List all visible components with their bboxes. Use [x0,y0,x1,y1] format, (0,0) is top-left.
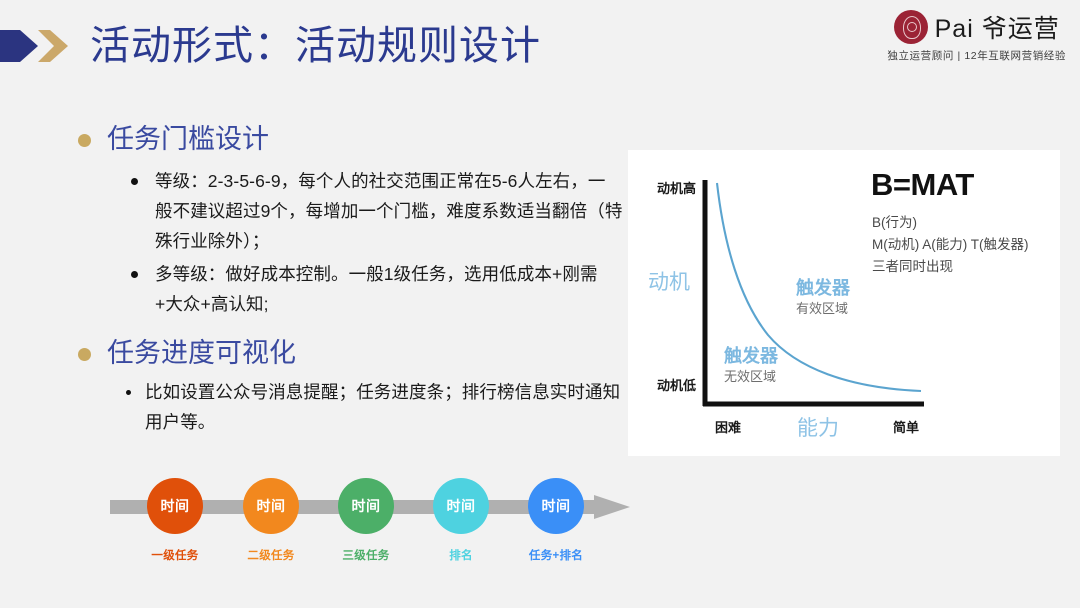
timeline-node-4[interactable]: 时间 排名 [418,478,504,563]
section-heading-1: 任务门槛设计 [78,122,623,157]
timeline-circle-3-text: 时间 [352,496,381,516]
bullet-dot-icon [131,178,138,185]
timeline-node-3[interactable]: 时间 三级任务 [323,478,409,563]
chart-y-axis-title: 动机 [648,271,690,294]
bullet-dot-icon [131,271,138,278]
timeline-label-1: 一级任务 [132,547,218,563]
list-item: 等级：2-3-5-6-9，每个人的社交范围正常在5-6人左右，一般不建议超过9个… [131,166,623,256]
bmat-chart-panel: 动机高 动机低 动机 困难 简单 能力 触发器 有效区域 触发器 无效区域 B=… [628,150,1060,456]
section-heading-1-label: 任务门槛设计 [107,122,269,157]
timeline-circle-1-text: 时间 [161,496,190,516]
timeline-circle-4-text: 时间 [447,496,476,516]
timeline-node-2[interactable]: 时间 二级任务 [228,478,314,563]
section-heading-2: 任务进度可视化 [78,336,623,371]
timeline-nodes: 时间 一级任务 时间 二级任务 时间 三级任务 时间 排名 [110,470,630,570]
chevron-double-right-icon [0,22,68,70]
timeline-circle-3: 时间 [338,478,394,534]
timeline-label-2: 二级任务 [228,547,314,563]
timeline-circle-5-text: 时间 [542,496,571,516]
chart-formula-equation: B=MAT [871,167,974,202]
section-1-bullets: 等级：2-3-5-6-9，每个人的社交范围正常在5-6人左右，一般不建议超过9个… [131,166,623,319]
logo-tagline: 独立运营顾问 | 12年互联网营销经验 [887,48,1066,63]
chart-formula-line-2: M(动机) A(能力) T(触发器) [872,237,1028,252]
list-item-text: 比如设置公众号消息提醒；任务进度条；排行榜信息实时通知用户等。 [145,377,623,437]
timeline-circle-5: 时间 [528,478,584,534]
logo-seal-icon [894,10,928,44]
timeline-circle-2: 时间 [243,478,299,534]
timeline-node-5[interactable]: 时间 任务+排名 [513,478,599,563]
timeline-label-5: 任务+排名 [513,547,599,563]
chart-formula-line-1: B(行为) [872,215,917,230]
slide-header: 活动形式：活动规则设计 [0,22,541,70]
chart-annotation-2-subtitle: 无效区域 [724,369,776,384]
chart-xtick-hard: 困难 [715,420,741,435]
timeline-circle-2-text: 时间 [257,496,286,516]
list-item: 比如设置公众号消息提醒；任务进度条；排行榜信息实时通知用户等。 [126,377,623,437]
section-heading-2-label: 任务进度可视化 [107,336,296,371]
list-item-text: 多等级：做好成本控制。一般1级任务，选用低成本+刚需+大众+高认知; [155,259,623,319]
chart-x-axis-title: 能力 [797,417,839,440]
section-2-bullets: 比如设置公众号消息提醒；任务进度条；排行榜信息实时通知用户等。 [126,377,623,437]
chart-annotation-1-subtitle: 有效区域 [796,301,848,316]
bullet-dot-icon [126,390,131,395]
page-title: 活动形式：活动规则设计 [90,24,541,68]
logo-main-row: Pai 爷运营 [894,9,1060,45]
timeline-circle-4: 时间 [433,478,489,534]
timeline-node-1[interactable]: 时间 一级任务 [132,478,218,563]
chart-ytick-low: 动机低 [657,378,696,393]
timeline-label-4: 排名 [418,547,504,563]
brand-logo: Pai 爷运营 独立运营顾问 | 12年互联网营销经验 [887,9,1066,63]
chart-ytick-high: 动机高 [657,181,696,196]
timeline-circle-1: 时间 [147,478,203,534]
list-item-text: 等级：2-3-5-6-9，每个人的社交范围正常在5-6人左右，一般不建议超过9个… [155,166,623,256]
bmat-chart-svg: 动机高 动机低 动机 困难 简单 能力 触发器 有效区域 触发器 无效区域 B=… [628,150,1060,456]
chart-xtick-easy: 简单 [893,420,919,435]
content-body: 任务门槛设计 等级：2-3-5-6-9，每个人的社交范围正常在5-6人左右，一般… [78,122,623,440]
chart-formula-line-3: 三者同时出现 [872,259,953,274]
heading-bullet-icon [78,348,91,361]
chart-annotation-1-title: 触发器 [796,277,851,298]
timeline-graphic: 时间 一级任务 时间 二级任务 时间 三级任务 时间 排名 [110,470,630,570]
chart-annotation-2-title: 触发器 [724,345,779,366]
timeline-label-3: 三级任务 [323,547,409,563]
slide-root: 活动形式：活动规则设计 Pai 爷运营 独立运营顾问 | 12年互联网营销经验 … [0,0,1080,608]
heading-bullet-icon [78,134,91,147]
list-item: 多等级：做好成本控制。一般1级任务，选用低成本+刚需+大众+高认知; [131,259,623,319]
logo-brand-text: Pai 爷运营 [935,9,1060,45]
title-chevron-group [0,22,68,70]
